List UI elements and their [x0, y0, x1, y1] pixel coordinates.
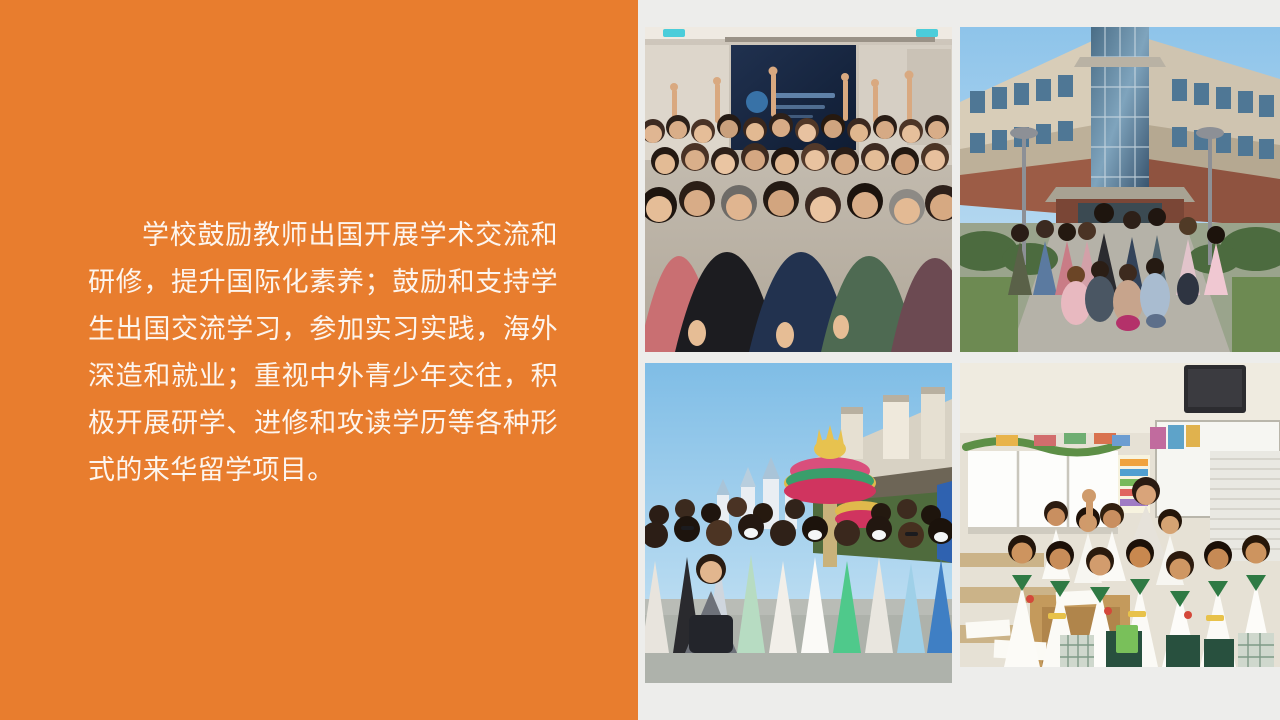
photo-classroom-children[interactable]	[960, 363, 1280, 667]
classroom-children-illustration	[960, 363, 1280, 667]
conference-group-illustration	[645, 27, 952, 352]
watermark-logo-left-icon	[663, 29, 685, 37]
body-paragraph: 学校鼓励教师出国开展学术交流和研修，提升国际化素养；鼓励和支持学生出国交流学习，…	[88, 212, 558, 494]
photo-conference-group[interactable]	[645, 27, 952, 352]
watermark-logo-right-icon	[916, 29, 938, 37]
theme-park-illustration	[645, 363, 952, 683]
photo-grid	[645, 27, 1280, 683]
campus-building-illustration	[960, 27, 1280, 352]
slide-root: 学校鼓励教师出国开展学术交流和研修，提升国际化素养；鼓励和支持学生出国交流学习，…	[0, 0, 1280, 720]
photo-theme-park-group[interactable]	[645, 363, 952, 683]
left-orange-panel: 学校鼓励教师出国开展学术交流和研修，提升国际化素养；鼓励和支持学生出国交流学习，…	[0, 0, 638, 720]
photo-campus-building-group[interactable]	[960, 27, 1280, 352]
